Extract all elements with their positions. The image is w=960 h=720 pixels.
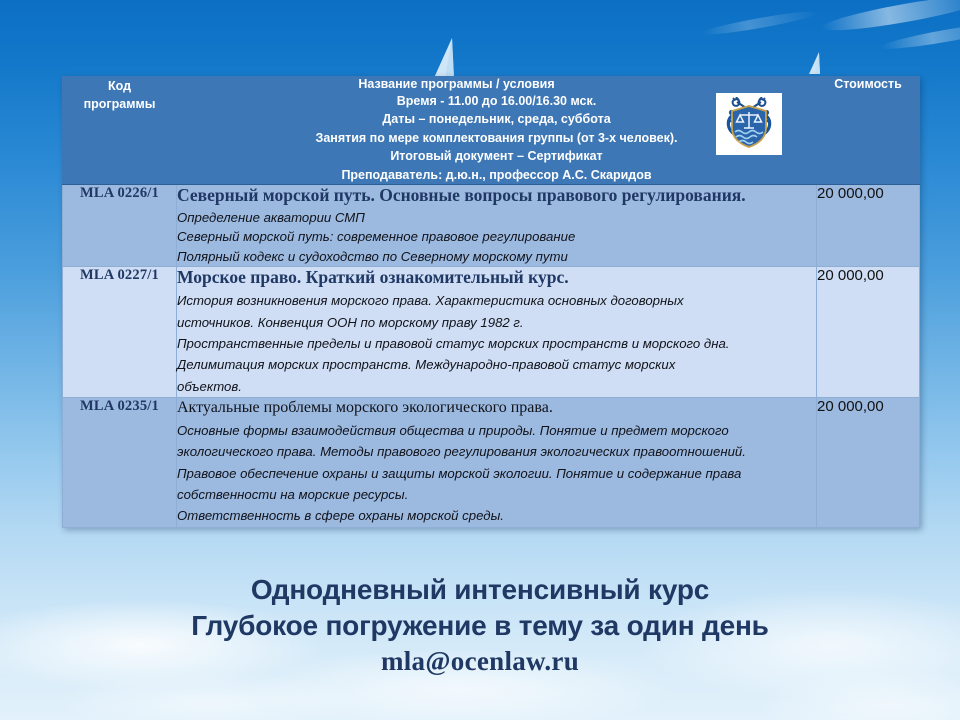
program-detail-line: объектов. [177, 376, 816, 397]
contact-email[interactable]: mla@ocenlaw.ru [0, 644, 960, 679]
program-detail-line: Правовое обеспечение охраны и защиты мор… [177, 463, 816, 484]
program-price: 20 000,00 [817, 185, 884, 202]
footer-headline-1: Однодневный интенсивный курс [0, 572, 960, 608]
program-detail-line: собственности на морские ресурсы. [177, 484, 816, 505]
row-price-cell: 20 000,00 [817, 267, 920, 398]
footer-headline-2: Глубокое погружение в тему за один день [0, 608, 960, 644]
program-title: Актуальные проблемы морского экологическ… [177, 398, 816, 418]
header-cell-title-conditions: Название программы / условия Время - 11.… [177, 77, 817, 185]
program-detail-line: Северный морской путь: современное право… [177, 227, 816, 246]
cloud-blob-5 [60, 672, 360, 720]
table-header-row: Код программы Название программы / услов… [63, 77, 920, 185]
row-description-cell: Морское право. Краткий ознакомительный к… [177, 267, 817, 398]
program-code: MLA 0235/1 [80, 398, 159, 414]
program-detail-line: Полярный кодекс и судоходство по Северно… [177, 247, 816, 266]
row-description-cell: Актуальные проблемы морского экологическ… [177, 398, 817, 527]
header-code-line2: программы [63, 95, 176, 113]
sailboat-sail-large-icon [428, 38, 456, 80]
program-price: 20 000,00 [817, 398, 884, 415]
program-detail-line: Основные формы взаимодействия общества и… [177, 420, 816, 441]
row-code-cell: MLA 0227/1 [63, 267, 177, 398]
program-detail-line: Пространственные пределы и правовой стат… [177, 333, 816, 354]
slide-footer: Однодневный интенсивный курс Глубокое по… [0, 572, 960, 679]
program-detail-line: экологического права. Методы правового р… [177, 441, 816, 462]
program-title: Северный морской путь. Основные вопросы … [177, 185, 816, 206]
program-detail-line: Делимитация морских пространств. Междуна… [177, 354, 816, 375]
program-title: Морское право. Краткий ознакомительный к… [177, 267, 816, 288]
program-code: MLA 0226/1 [80, 185, 159, 201]
row-price-cell: 20 000,00 [817, 398, 920, 527]
header-cell-code: Код программы [63, 77, 177, 185]
maritime-law-academy-emblem-icon [716, 93, 782, 155]
cloud-wisp-3 [700, 8, 820, 39]
header-cell-price: Стоимость [817, 77, 920, 185]
program-detail-line: История возникновения морского права. Ха… [177, 290, 816, 311]
sailboat-sail-small-icon [806, 52, 822, 76]
cloud-wisp-1 [820, 0, 960, 37]
program-detail-line: Определение акватории СМП [177, 208, 816, 227]
row-code-cell: MLA 0226/1 [63, 184, 177, 266]
program-price: 20 000,00 [817, 267, 884, 284]
program-code: MLA 0227/1 [80, 267, 159, 283]
program-detail-line: Ответственность в сфере охраны морской с… [177, 505, 816, 526]
programs-price-table: Код программы Название программы / услов… [62, 76, 920, 528]
row-price-cell: 20 000,00 [817, 184, 920, 266]
header-code-line1: Код [63, 77, 176, 95]
cloud-wisp-2 [880, 19, 960, 53]
row-description-cell: Северный морской путь. Основные вопросы … [177, 184, 817, 266]
program-detail-line: источников. Конвенция ООН по морскому пр… [177, 312, 816, 333]
table-row[interactable]: MLA 0235/1 Актуальные проблемы морского … [63, 398, 920, 527]
slide-canvas: Код программы Название программы / услов… [0, 0, 960, 720]
header-condition-lecturer: Преподаватель: д.ю.н., профессор А.С. Ск… [177, 166, 816, 184]
header-title-label: Название программы / условия [177, 77, 816, 91]
header-price-label: Стоимость [834, 77, 902, 91]
row-code-cell: MLA 0235/1 [63, 398, 177, 527]
table-row[interactable]: MLA 0227/1 Морское право. Краткий ознако… [63, 267, 920, 398]
table-row[interactable]: MLA 0226/1 Северный морской путь. Основн… [63, 184, 920, 266]
